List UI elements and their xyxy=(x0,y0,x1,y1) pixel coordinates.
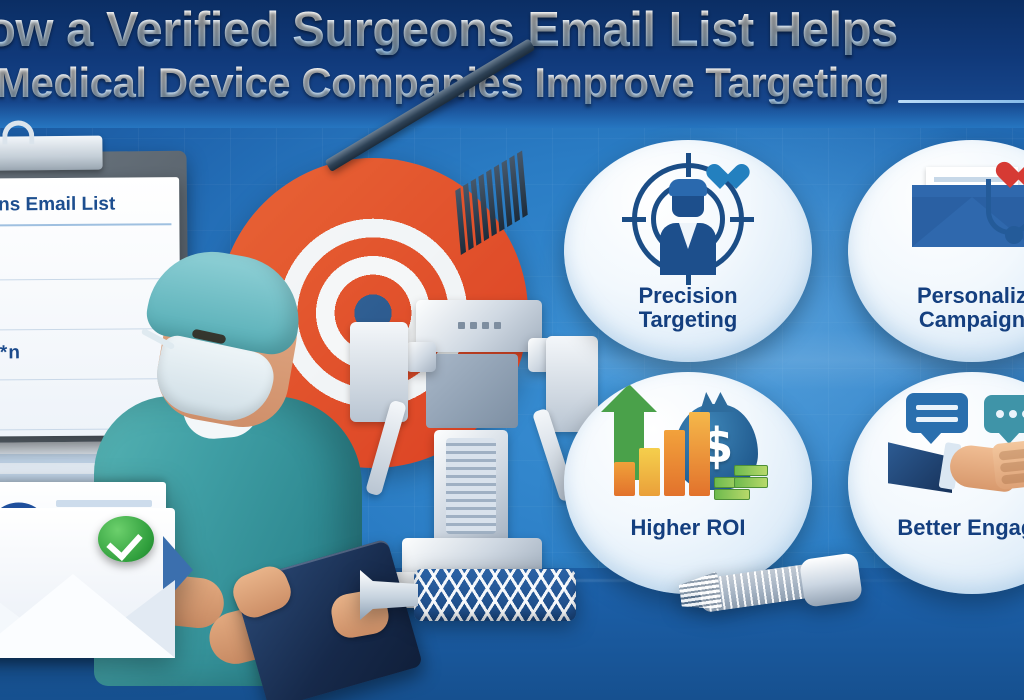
feature-circle-precision-targeting[interactable]: Precision Targeting xyxy=(564,140,812,362)
ribbed-metal-implant xyxy=(660,556,860,626)
heart-icon xyxy=(720,165,748,191)
sheet-title: urgeons Email List xyxy=(0,193,171,217)
title-line-1: ow a Verified Surgeons Email List Helps xyxy=(0,6,986,55)
sheet-rule xyxy=(0,223,171,227)
verified-check-icon xyxy=(98,516,154,562)
speech-bubble-lines-icon xyxy=(906,393,968,433)
infographic-banner: ow a Verified Surgeons Email List Helps … xyxy=(0,0,1024,700)
hand-right xyxy=(992,438,1024,490)
crosshair-doctor-icon xyxy=(564,156,812,282)
feature-circle-personalized-campaigns[interactable]: Personaliz Campaign xyxy=(848,140,1024,362)
page-title: ow a Verified Surgeons Email List Helps … xyxy=(0,6,986,104)
arrow-fletching-icon xyxy=(443,151,553,250)
cash-stack-icon xyxy=(714,462,768,500)
feature-label: Higher ROI xyxy=(631,516,746,540)
open-envelope-stethoscope-icon xyxy=(848,156,1024,282)
feature-label: Better Engage xyxy=(897,516,1024,540)
email-envelope: @ xyxy=(0,508,175,658)
header-banner: ow a Verified Surgeons Email List Helps … xyxy=(0,0,1024,128)
mesh-stent-implant xyxy=(360,566,590,624)
feature-circle-better-engagement[interactable]: Better Engage xyxy=(848,372,1024,594)
feature-label: Precision Targeting xyxy=(638,284,737,332)
money-bag-growth-chart-icon: $ xyxy=(564,388,812,514)
title-accent-line xyxy=(898,100,1024,103)
heart-icon xyxy=(1010,163,1024,191)
feature-label: Personaliz Campaign xyxy=(917,284,1024,332)
handshake-speech-bubbles-icon xyxy=(848,388,1024,514)
speech-bubble-dots-icon xyxy=(984,395,1024,433)
